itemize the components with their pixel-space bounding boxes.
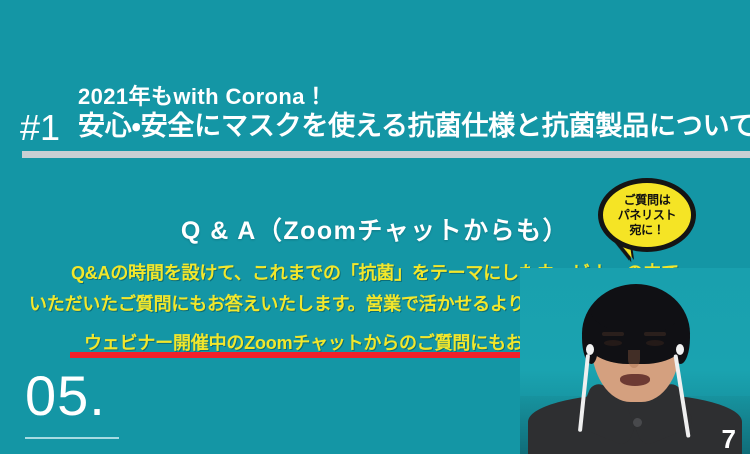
presenter-eyebrow-left bbox=[602, 332, 624, 336]
speech-bubble-text: ご質問は パネリスト 宛に！ bbox=[598, 178, 696, 252]
webinar-slide-screen: #1 2021年もwith Corona！ 安心・安全にマスクを使える抗菌仕様と… bbox=[0, 0, 750, 454]
presenter-earbud-right bbox=[676, 344, 684, 355]
presenter-eye-right bbox=[646, 340, 664, 346]
presenter-sideburn-left bbox=[582, 320, 598, 364]
presenter-earbud-left bbox=[586, 344, 594, 355]
speech-bubble-line-3: 宛に！ bbox=[629, 223, 664, 238]
presenter-nose bbox=[628, 350, 640, 368]
callout-speech-bubble: ご質問は パネリスト 宛に！ bbox=[598, 178, 696, 252]
heading-number: #1 bbox=[20, 110, 60, 146]
heading-kicker: 2021年もwith Corona！ bbox=[78, 86, 327, 108]
heading-divider-rule bbox=[22, 151, 750, 158]
presenter-jacket-button bbox=[633, 418, 642, 427]
slide-index-rule bbox=[25, 437, 119, 439]
heading-title: 安心・安全にマスクを使える抗菌仕様と抗菌製品について bbox=[78, 113, 750, 140]
presenter-mouth bbox=[620, 374, 650, 386]
speech-bubble-line-1: ご質問は bbox=[624, 193, 671, 208]
presenter-eyebrow-right bbox=[644, 332, 666, 336]
presenter-video-overlay[interactable] bbox=[520, 268, 750, 454]
slide-index-label: 05. bbox=[25, 368, 106, 424]
page-number: 7 bbox=[722, 426, 736, 452]
presenter-eye-left bbox=[604, 340, 622, 346]
speech-bubble-line-2: パネリスト bbox=[618, 208, 677, 223]
